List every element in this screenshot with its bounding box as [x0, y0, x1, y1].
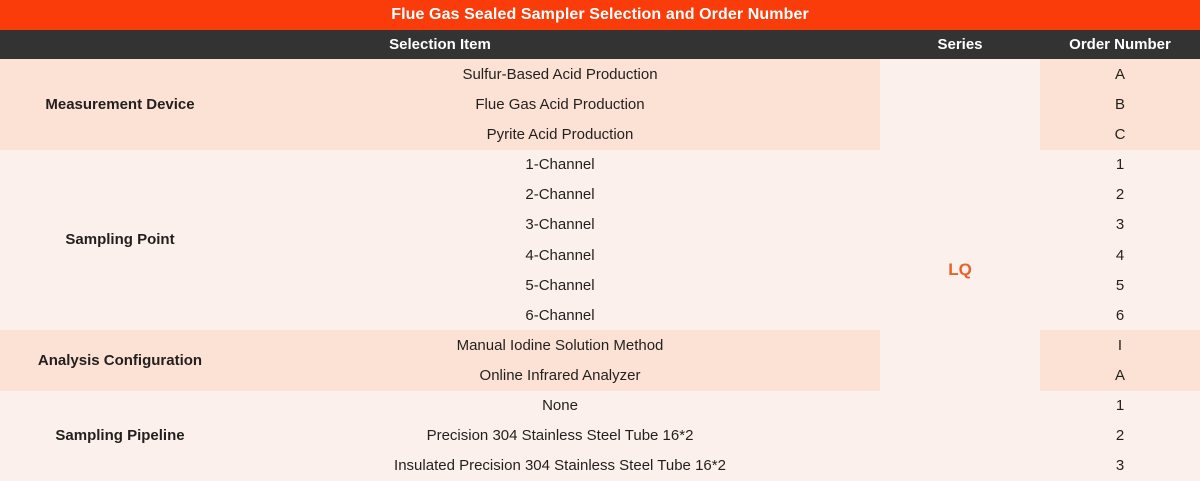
selection-order-table: Flue Gas Sealed Sampler Selection and Or…	[0, 0, 1200, 481]
series-cell: LQ	[880, 59, 1040, 481]
order-number-cell: A	[1040, 59, 1200, 89]
order-number-cell: 3	[1040, 210, 1200, 240]
title-row: Flue Gas Sealed Sampler Selection and Or…	[0, 0, 1200, 30]
selection-item-cell: Manual Iodine Solution Method	[240, 330, 880, 360]
column-header-row: Selection Item Series Order Number	[0, 30, 1200, 59]
category-cell: Analysis Configuration	[0, 330, 240, 390]
order-number-cell: 2	[1040, 421, 1200, 451]
selection-item-cell: Sulfur-Based Acid Production	[240, 59, 880, 89]
selection-item-cell: Online Infrared Analyzer	[240, 360, 880, 390]
order-number-cell: B	[1040, 89, 1200, 119]
table-body: Flue Gas Sealed Sampler Selection and Or…	[0, 0, 1200, 481]
selection-item-cell: 2-Channel	[240, 180, 880, 210]
selection-item-cell: Pyrite Acid Production	[240, 119, 880, 149]
table-title: Flue Gas Sealed Sampler Selection and Or…	[0, 0, 1200, 30]
order-number-cell: 2	[1040, 180, 1200, 210]
order-number-cell: 4	[1040, 240, 1200, 270]
selection-item-cell: 1-Channel	[240, 150, 880, 180]
selection-item-cell: 4-Channel	[240, 240, 880, 270]
order-number-cell: 1	[1040, 391, 1200, 421]
selection-item-cell: 3-Channel	[240, 210, 880, 240]
selection-item-cell: 5-Channel	[240, 270, 880, 300]
category-cell: Measurement Device	[0, 59, 240, 149]
selection-item-cell: Flue Gas Acid Production	[240, 89, 880, 119]
order-number-cell: 3	[1040, 451, 1200, 481]
order-number-cell: A	[1040, 360, 1200, 390]
selection-item-cell: None	[240, 391, 880, 421]
category-cell: Sampling Point	[0, 150, 240, 331]
order-number-cell: C	[1040, 119, 1200, 149]
selection-item-cell: Insulated Precision 304 Stainless Steel …	[240, 451, 880, 481]
column-header-order-number: Order Number	[1040, 30, 1200, 59]
order-number-cell: 6	[1040, 300, 1200, 330]
selection-item-cell: 6-Channel	[240, 300, 880, 330]
selection-item-cell: Precision 304 Stainless Steel Tube 16*2	[240, 421, 880, 451]
category-cell: Sampling Pipeline	[0, 391, 240, 481]
order-number-cell: 1	[1040, 150, 1200, 180]
column-header-selection-item: Selection Item	[0, 30, 880, 59]
order-number-cell: 5	[1040, 270, 1200, 300]
table-row: Measurement DeviceSulfur-Based Acid Prod…	[0, 59, 1200, 89]
order-number-cell: I	[1040, 330, 1200, 360]
column-header-series: Series	[880, 30, 1040, 59]
